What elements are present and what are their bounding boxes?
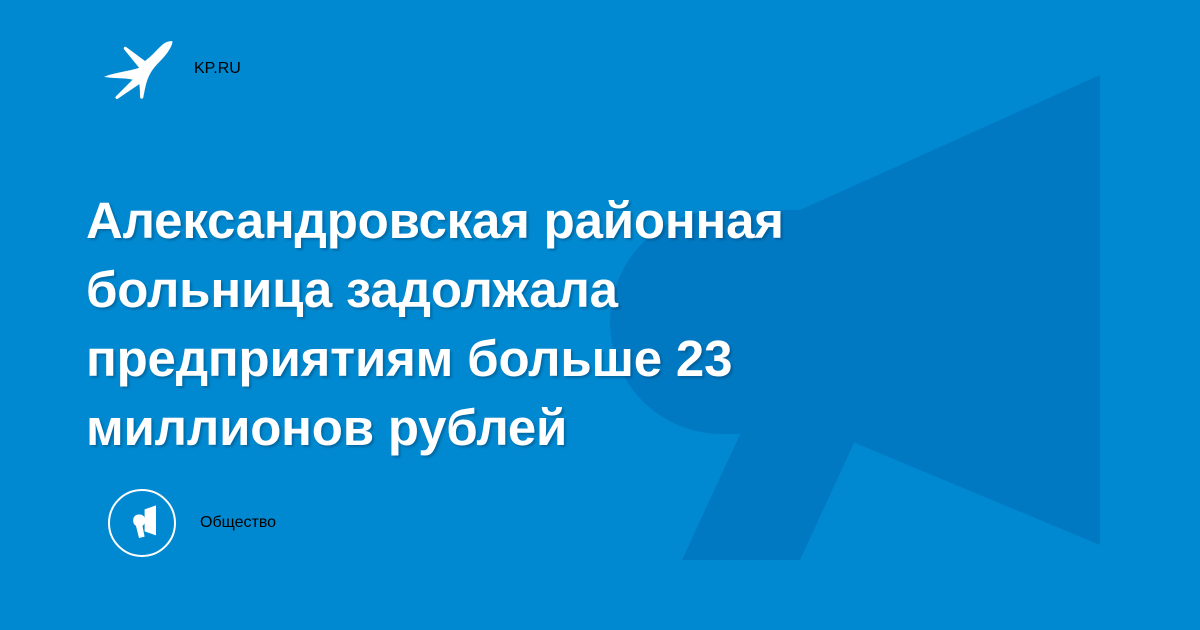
category-badge[interactable]: Общество xyxy=(108,489,276,557)
megaphone-icon xyxy=(123,504,161,542)
category-label: Общество xyxy=(200,514,276,532)
swallow-bird-icon xyxy=(104,38,176,100)
category-icon-circle xyxy=(108,489,176,557)
site-header: KP.RU xyxy=(104,38,241,100)
share-card: KP.RU Александровская районная больница … xyxy=(0,0,1200,630)
brand-name: KP.RU xyxy=(194,60,241,78)
headline: Александровская районная больница задолж… xyxy=(86,186,916,462)
